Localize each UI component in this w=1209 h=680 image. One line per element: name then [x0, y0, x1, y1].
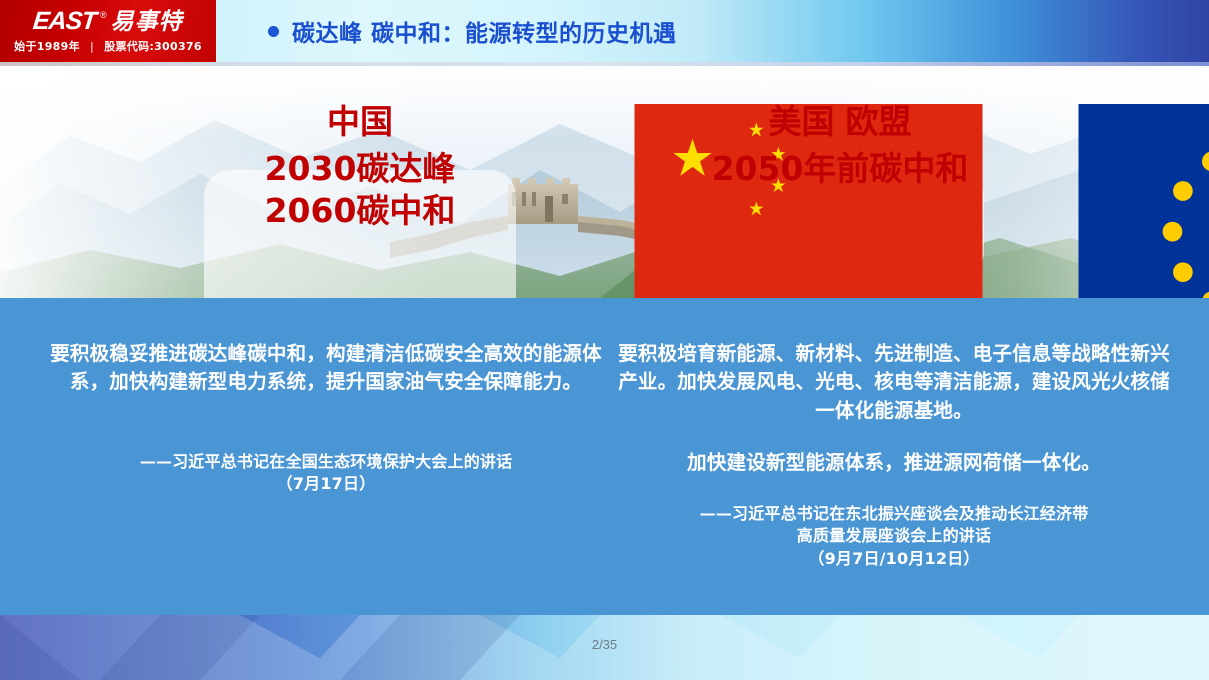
quote-left-attribution-line-2: （7月17日） — [48, 473, 604, 495]
quote-right-attribution-line-1: ——习近平总书记在东北振兴座谈会及推动长江经济带 — [616, 503, 1172, 525]
logo-founded-year: 始于1989年 — [14, 40, 80, 53]
slide-root: EAST ® 易事特 始于1989年 | 股票代码:300376 碳达峰 碳中和… — [0, 0, 1209, 680]
page-title: 碳达峰 碳中和：能源转型的历史机遇 — [292, 14, 677, 48]
company-logo[interactable]: EAST ® 易事特 始于1989年 | 股票代码:300376 — [0, 0, 216, 62]
logo-brand-latin: EAST — [32, 9, 97, 34]
quote-right-paragraph-2: 加快建设新型能源体系，推进源网荷储一体化。 — [616, 449, 1172, 477]
registered-trademark-icon: ® — [100, 11, 107, 20]
bullet-dot-icon — [268, 26, 279, 37]
hero-content: 中国 2030碳达峰 2060碳中和 — [0, 66, 1209, 298]
slide-title-group: 碳达峰 碳中和：能源转型的历史机遇 — [268, 0, 677, 62]
logo-stock-code: 股票代码:300376 — [104, 40, 202, 53]
quote-right-attribution-line-2: 高质量发展座谈会上的讲话 — [616, 525, 1172, 547]
quote-right-attribution-line-3: （9月7日/10月12日） — [616, 548, 1172, 570]
country-block-us-eu: 美国 欧盟 — [648, 104, 1032, 190]
us-eu-flag-line: 美国 欧盟 — [648, 104, 1032, 140]
logo-tagline: 始于1989年 | 股票代码:300376 — [14, 38, 202, 54]
hero-banner: 中国 2030碳达峰 2060碳中和 — [0, 66, 1209, 298]
footer-bar: 2/35 — [0, 615, 1209, 680]
quotes-panel: 要积极稳妥推进碳达峰碳中和，构建清洁低碳安全高效的能源体系，加快构建新型电力系统… — [0, 298, 1209, 615]
quote-left-paragraph-1: 要积极稳妥推进碳达峰碳中和，构建清洁低碳安全高效的能源体系，加快构建新型电力系统… — [48, 340, 604, 397]
page-indicator: 2/35 — [0, 637, 1209, 652]
logo-tagline-divider: | — [90, 40, 94, 53]
eu-flag-icon — [648, 104, 1209, 298]
quote-left-attribution-line-1: ——习近平总书记在全国生态环境保护大会上的讲话 — [48, 451, 604, 473]
quote-right-paragraph-1: 要积极培育新能源、新材料、先进制造、电子信息等战略性新兴产业。加快发展风电、光电… — [616, 340, 1172, 425]
quote-column-left: 要积极稳妥推进碳达峰碳中和，构建清洁低碳安全高效的能源体系，加快构建新型电力系统… — [48, 298, 604, 495]
china-flag-line: 中国 — [204, 104, 516, 140]
quote-column-right: 要积极培育新能源、新材料、先进制造、电子信息等战略性新兴产业。加快发展风电、光电… — [616, 298, 1172, 570]
logo-row: EAST ® 易事特 — [33, 9, 182, 34]
logo-brand-chinese: 易事特 — [111, 11, 183, 34]
country-block-china: 中国 2030碳达峰 2060碳中和 — [204, 104, 516, 231]
